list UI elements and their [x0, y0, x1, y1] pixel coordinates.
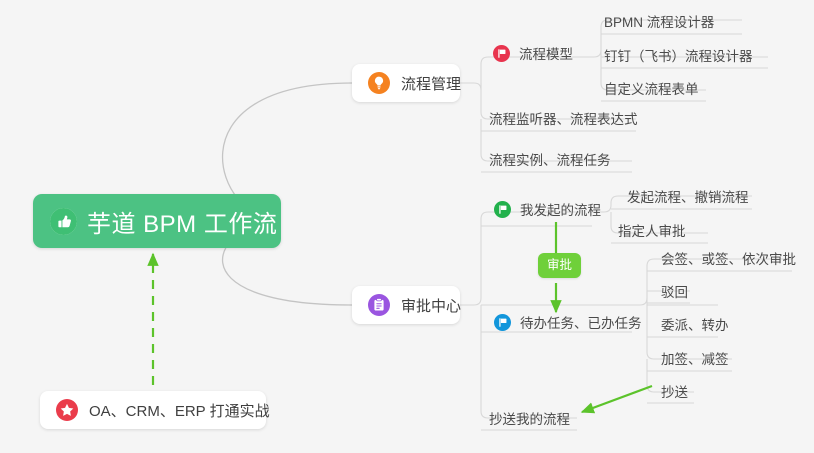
leaf-label-start-cancel-process: 发起流程、撤销流程: [627, 186, 749, 206]
root-label: 芋道 BPM 工作流: [87, 204, 277, 239]
lightbulb-icon: [366, 70, 392, 96]
floating-node-oa-crm-erp[interactable]: OA、CRM、ERP 打通实战: [40, 391, 266, 429]
leaf-label-custom-process-form: 自定义流程表单: [604, 78, 699, 98]
star-icon: [54, 397, 80, 423]
thumbs-up-icon: [50, 208, 77, 235]
branch-label-approval-center: 审批中心: [401, 295, 461, 316]
annotation-tag-approval: 审批: [538, 253, 581, 278]
leaf-label-multi-sign: 会签、或签、依次审批: [661, 248, 796, 268]
leaf-label-delegate-transfer: 委派、转办: [661, 314, 729, 334]
leaf-label-add-remove-sign: 加签、减签: [661, 348, 729, 368]
annotation-tag-approval-label: 审批: [547, 258, 572, 272]
leaf-node-cc-to-me-process[interactable]: 抄送我的流程: [489, 408, 570, 433]
leaf-label-designated-approver: 指定人审批: [618, 220, 686, 240]
root-node[interactable]: 芋道 BPM 工作流: [33, 194, 281, 248]
leaf-label-bpmn-designer: BPMN 流程设计器: [604, 11, 714, 31]
leaf-node-my-initiated-process[interactable]: 我发起的流程: [493, 199, 601, 224]
flag-icon: [493, 313, 512, 332]
leaf-node-designated-approver[interactable]: 指定人审批: [618, 220, 686, 245]
branch-node-process-management[interactable]: 流程管理: [352, 64, 460, 102]
leaf-label-my-initiated-process: 我发起的流程: [520, 199, 601, 219]
leaf-label-process-instance-task: 流程实例、流程任务: [489, 149, 611, 169]
leaf-node-custom-process-form[interactable]: 自定义流程表单: [604, 78, 699, 103]
leaf-label-cc-to-me-process: 抄送我的流程: [489, 408, 570, 428]
leaf-label-dingtalk-feishu-designer: 钉钉（飞书）流程设计器: [604, 45, 753, 65]
leaf-node-start-cancel-process[interactable]: 发起流程、撤销流程: [627, 186, 749, 211]
leaf-label-todo-done-tasks: 待办任务、已办任务: [520, 312, 642, 332]
mindmap-canvas: 芋道 BPM 工作流 流程管理 审批中心: [0, 0, 814, 453]
flag-icon: [492, 44, 511, 63]
leaf-label-process-model: 流程模型: [519, 43, 573, 63]
leaf-node-dingtalk-feishu-designer[interactable]: 钉钉（飞书）流程设计器: [604, 45, 753, 70]
leaf-label-process-listener-expression: 流程监听器、流程表达式: [489, 108, 638, 128]
leaf-node-reject[interactable]: 驳回: [661, 281, 688, 306]
leaf-node-process-instance-task[interactable]: 流程实例、流程任务: [489, 149, 611, 174]
leaf-node-bpmn-designer[interactable]: BPMN 流程设计器: [604, 11, 714, 36]
cc-arrow: [582, 386, 652, 412]
leaf-node-process-listener-expression[interactable]: 流程监听器、流程表达式: [489, 108, 638, 133]
leaf-node-delegate-transfer[interactable]: 委派、转办: [661, 314, 729, 339]
leaf-node-multi-sign[interactable]: 会签、或签、依次审批: [661, 248, 796, 273]
flag-icon: [493, 200, 512, 219]
leaf-node-process-model[interactable]: 流程模型: [492, 43, 573, 68]
leaf-label-cc: 抄送: [661, 381, 688, 401]
leaf-label-reject: 驳回: [661, 281, 688, 301]
leaf-node-cc[interactable]: 抄送: [661, 381, 688, 406]
leaf-node-add-remove-sign[interactable]: 加签、减签: [661, 348, 729, 373]
floating-label-oa-crm-erp: OA、CRM、ERP 打通实战: [89, 400, 270, 421]
clipboard-icon: [366, 292, 392, 318]
branch-node-approval-center[interactable]: 审批中心: [352, 286, 460, 324]
leaf-node-todo-done-tasks[interactable]: 待办任务、已办任务: [493, 312, 642, 337]
branch-label-process-management: 流程管理: [401, 73, 461, 94]
